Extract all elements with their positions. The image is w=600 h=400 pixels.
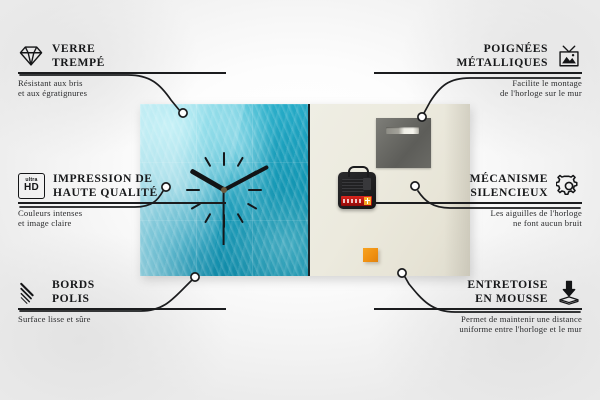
foam-spacer (363, 248, 378, 262)
hanger-slot (386, 127, 419, 134)
feature-title: IMPRESSION DE HAUTE QUALITÉ (53, 172, 158, 199)
feature-title: BORDS POLIS (52, 278, 95, 305)
feature-divider (374, 72, 582, 73)
battery-plus-terminal (364, 197, 371, 205)
feature-title: MÉCANISME SILENCIEUX (470, 172, 548, 199)
feature-title: ENTRETOISE EN MOUSSE (467, 278, 548, 305)
mechanism-boss (363, 178, 371, 190)
feature-subtitle: Les aiguilles de l'horloge ne font aucun… (374, 208, 582, 229)
feature-subtitle: Facilite le montage de l'horloge sur le … (374, 78, 582, 99)
feature-subtitle: Surface lisse et sûre (18, 314, 226, 324)
feature-subtitle: Couleurs intenses et image claire (18, 208, 226, 229)
feature-divider (18, 72, 226, 73)
feature-title: POIGNÉES MÉTALLIQUES (456, 42, 548, 69)
mechanism-hanger-loop (348, 166, 369, 177)
feature-poignees-metalliques: POIGNÉES MÉTALLIQUES Facilite le montage… (374, 42, 582, 98)
feature-title: VERRE TREMPÉ (52, 42, 105, 69)
battery (341, 196, 372, 206)
battery-label (343, 199, 361, 203)
feature-divider (374, 308, 582, 309)
feature-divider (18, 202, 226, 203)
ultra-hd-icon: ultra HD (18, 173, 45, 199)
mechanism-vents (342, 179, 364, 192)
infographic-canvas: VERRE TREMPÉ Résistant aux bris et aux é… (0, 0, 600, 400)
metal-hanger-plate (376, 118, 431, 168)
ultra-hd-icon-main-label: HD (24, 183, 39, 193)
polished-edge-icon (18, 279, 44, 305)
feature-mecanisme-silencieux: MÉCANISME SILENCIEUX Les aiguilles de l'… (374, 172, 582, 228)
feature-subtitle: Permet de maintenir une distance uniform… (374, 314, 582, 335)
picture-frame-icon (556, 43, 582, 69)
clock-mechanism-box (338, 172, 376, 209)
feature-divider (18, 308, 226, 309)
feature-divider (374, 202, 582, 203)
press-down-arrow-icon (556, 279, 582, 305)
feature-impression-haute-qualite: ultra HD IMPRESSION DE HAUTE QUALITÉ Cou… (18, 172, 226, 228)
gear-icon (556, 173, 582, 199)
diamond-icon (18, 43, 44, 69)
feature-bords-polis: BORDS POLIS Surface lisse et sûre (18, 278, 226, 324)
feature-verre-trempe: VERRE TREMPÉ Résistant aux bris et aux é… (18, 42, 226, 98)
feature-subtitle: Résistant aux bris et aux égratignures (18, 78, 226, 99)
feature-entretoise-en-mousse: ENTRETOISE EN MOUSSE Permet de maintenir… (374, 278, 582, 334)
